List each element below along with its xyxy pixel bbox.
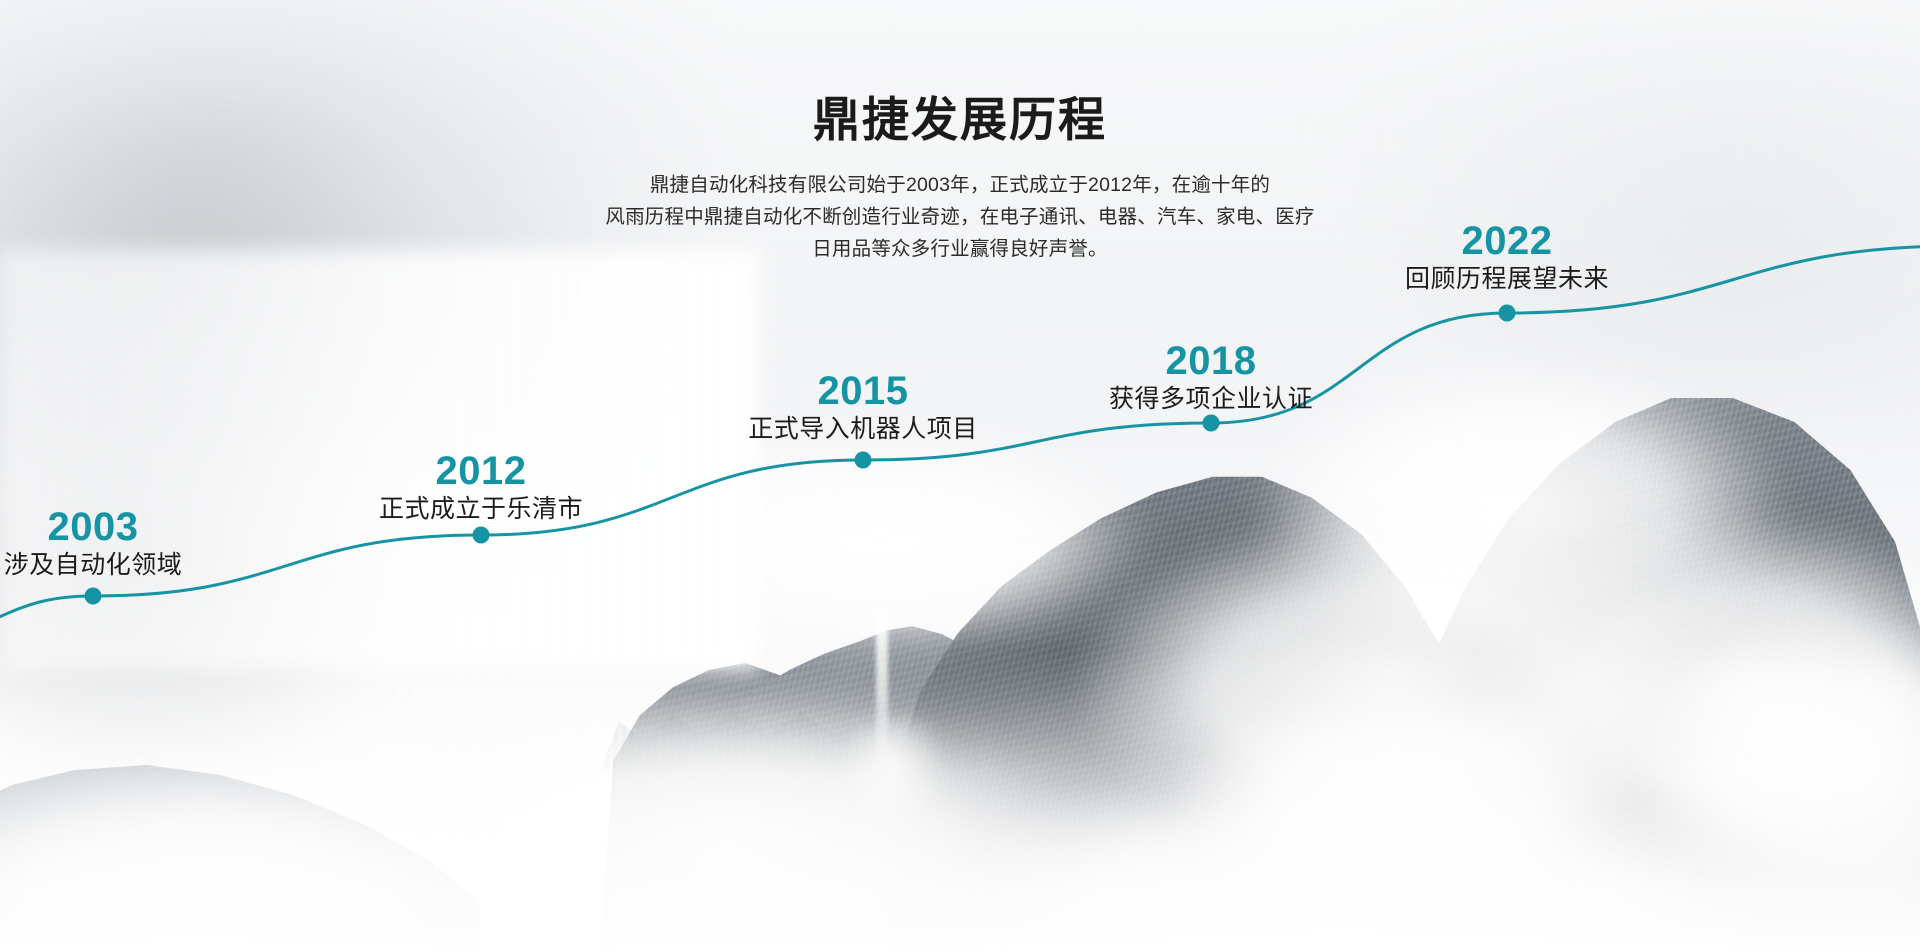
timeline-node-2022[interactable] (1499, 305, 1516, 322)
description-line-1: 鼎捷自动化科技有限公司始于2003年，正式成立于2012年，在逾十年的 (0, 170, 1920, 202)
header: 鼎捷发展历程 鼎捷自动化科技有限公司始于2003年，正式成立于2012年，在逾十… (0, 0, 1920, 265)
milestone-2018[interactable]: 2018获得多项企业认证 (1109, 340, 1313, 415)
timeline-node-2012[interactable] (473, 527, 490, 544)
timeline-node-2015[interactable] (855, 452, 872, 469)
milestone-label: 回顾历程展望未来 (1405, 264, 1609, 295)
milestone-year: 2012 (379, 450, 583, 492)
description-line-2: 风雨历程中鼎捷自动化不断创造行业奇迹，在电子通讯、电器、汽车、家电、医疗 (0, 202, 1920, 234)
description-block: 鼎捷自动化科技有限公司始于2003年，正式成立于2012年，在逾十年的 风雨历程… (0, 170, 1920, 265)
milestone-2012[interactable]: 2012正式成立于乐清市 (379, 450, 583, 525)
milestone-label: 获得多项企业认证 (1109, 384, 1313, 415)
milestone-label: 涉及自动化领域 (4, 550, 183, 581)
timeline-node-2003[interactable] (85, 588, 102, 605)
timeline-node-2018[interactable] (1203, 415, 1220, 432)
milestone-year: 2018 (1109, 340, 1313, 382)
slide-canvas: 鼎捷发展历程 鼎捷自动化科技有限公司始于2003年，正式成立于2012年，在逾十… (0, 0, 1920, 950)
page-title: 鼎捷发展历程 (0, 92, 1920, 148)
milestone-2015[interactable]: 2015正式导入机器人项目 (748, 370, 978, 445)
milestone-2022[interactable]: 2022回顾历程展望未来 (1405, 220, 1609, 295)
milestone-label: 正式成立于乐清市 (379, 494, 583, 525)
milestone-year: 2022 (1405, 220, 1609, 262)
milestone-year: 2003 (4, 506, 183, 548)
description-line-3: 日用品等众多行业赢得良好声誉。 (0, 234, 1920, 266)
milestone-label: 正式导入机器人项目 (748, 414, 978, 445)
milestone-2003[interactable]: 2003涉及自动化领域 (4, 506, 183, 581)
milestone-year: 2015 (748, 370, 978, 412)
